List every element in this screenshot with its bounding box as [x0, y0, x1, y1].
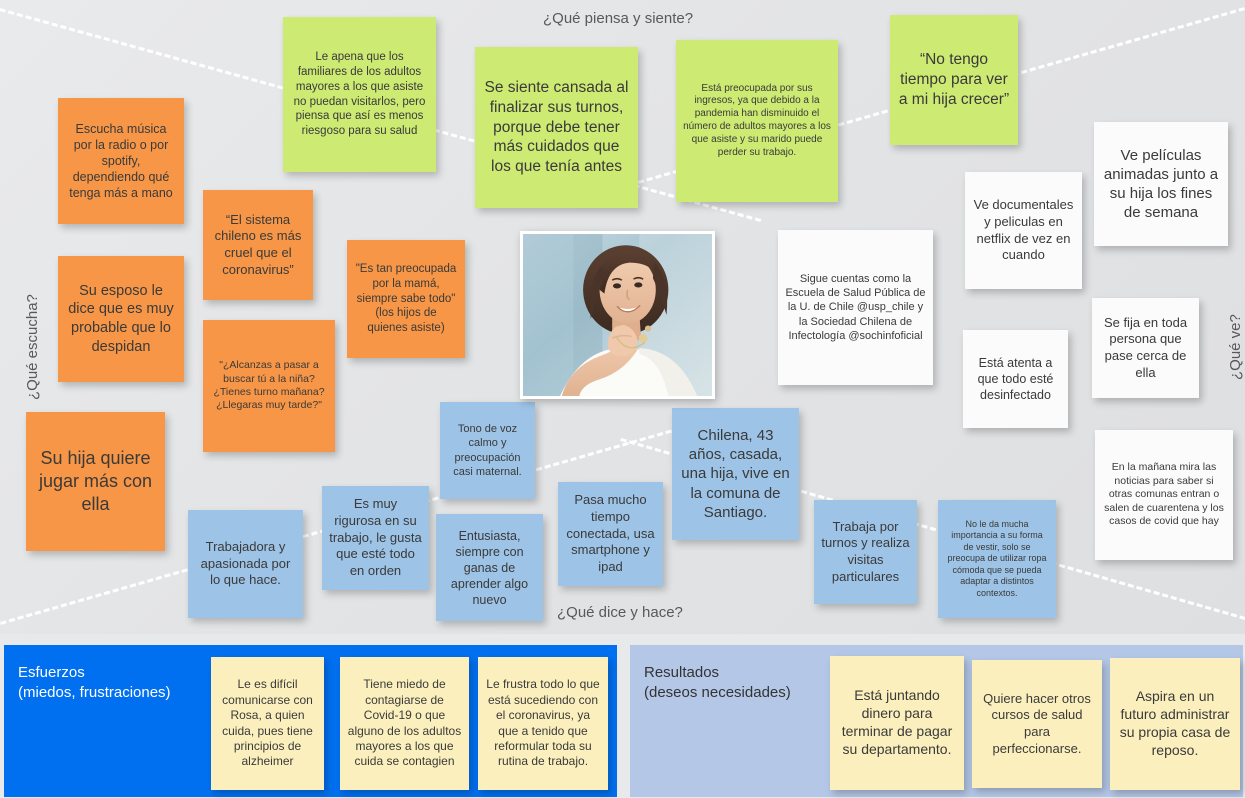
note-trabajadora-apasionada[interactable]: Trabajadora y apasionada por lo que hace…: [188, 510, 303, 618]
note-preocupada-ingresos[interactable]: Está preocupada por sus ingresos, ya que…: [676, 40, 838, 202]
note-sistema-chileno[interactable]: “El sistema chileno es más cruel que el …: [203, 190, 313, 300]
empathy-map-canvas: ¿Qué piensa y siente? ¿Qué escucha? ¿Qué…: [0, 0, 1245, 798]
empathy-map-board: ¿Qué piensa y siente? ¿Qué escucha? ¿Qué…: [0, 0, 1245, 634]
note-miedo-contagiarse[interactable]: Tiene miedo de contagiarse de Covid-19 o…: [340, 657, 469, 790]
note-es-tan-preocupada[interactable]: "Es tan preocupada por la mamá, siempre …: [347, 240, 465, 358]
quadrant-label-see: ¿Qué ve?: [1227, 314, 1244, 380]
resultados-title: Resultados (deseos necesidades): [644, 663, 791, 704]
note-casa-de-reposo[interactable]: Aspira en un futuro administrar su propi…: [1110, 658, 1240, 790]
persona-photo: [520, 231, 715, 399]
note-ve-documentales[interactable]: Ve documentales y peliculas en netflix d…: [965, 172, 1082, 289]
quadrant-label-think-feel: ¿Qué piensa y siente?: [543, 10, 693, 27]
note-cansada-turnos[interactable]: Se siente cansada al finalizar sus turno…: [475, 47, 638, 208]
note-tono-de-voz[interactable]: Tono de voz calmo y preocupación casi ma…: [440, 402, 535, 499]
note-entusiasta[interactable]: Entusiasta, siempre con ganas de aprende…: [436, 514, 543, 621]
note-cursos-salud[interactable]: Quiere hacer otros cursos de salud para …: [972, 660, 1102, 788]
note-sigue-cuentas[interactable]: Sigue cuentas como la Escuela de Salud P…: [778, 230, 933, 385]
note-dificil-comunicarse[interactable]: Le es difícil comunicarse con Rosa, a qu…: [211, 657, 324, 790]
note-pasa-mucho-tiempo[interactable]: Pasa mucho tiempo conectada, usa smartph…: [558, 482, 663, 586]
note-juntando-dinero[interactable]: Está juntando dinero para terminar de pa…: [830, 656, 964, 790]
note-manana-noticias[interactable]: En la mañana mira las noticias para sabe…: [1095, 430, 1233, 560]
note-esposo-despidan[interactable]: Su esposo le dice que es muy probable qu…: [58, 256, 184, 382]
note-hija-jugar[interactable]: Su hija quiere jugar más con ella: [26, 412, 165, 551]
note-ve-peliculas-animadas[interactable]: Ve películas animadas junto a su hija lo…: [1094, 122, 1228, 246]
note-forma-de-vestir[interactable]: No le da mucha importancia a su forma de…: [938, 500, 1056, 618]
note-atenta-desinfectado[interactable]: Está atenta a que todo esté desinfectado: [963, 330, 1068, 428]
esfuerzos-title: Esfuerzos (miedos, frustraciones): [18, 663, 171, 704]
note-chilena-43[interactable]: Chilena, 43 años, casada, una hija, vive…: [672, 408, 799, 540]
note-se-fija-persona[interactable]: Se fija en toda persona que pase cerca d…: [1092, 298, 1199, 398]
note-no-tengo-tiempo[interactable]: “No tengo tiempo para ver a mi hija crec…: [890, 15, 1018, 145]
note-frustra-coronavirus[interactable]: Le frustra todo lo que está sucediendo c…: [478, 657, 608, 790]
note-trabaja-por-turnos[interactable]: Trabaja por turnos y realiza visitas par…: [814, 500, 917, 604]
note-muy-rigurosa[interactable]: Es muy rigurosa en su trabajo, le gusta …: [322, 486, 429, 590]
quadrant-label-hear: ¿Qué escucha?: [24, 294, 41, 400]
quadrant-label-say-do: ¿Qué dice y hace?: [557, 604, 683, 621]
note-escucha-musica[interactable]: Escucha música por la radio o por spotif…: [58, 98, 184, 224]
note-alcanzas-pasar[interactable]: "¿Alcanzas a pasar a buscar tú a la niña…: [203, 320, 335, 452]
note-apena-familiares[interactable]: Le apena que los familiares de los adult…: [283, 17, 436, 172]
